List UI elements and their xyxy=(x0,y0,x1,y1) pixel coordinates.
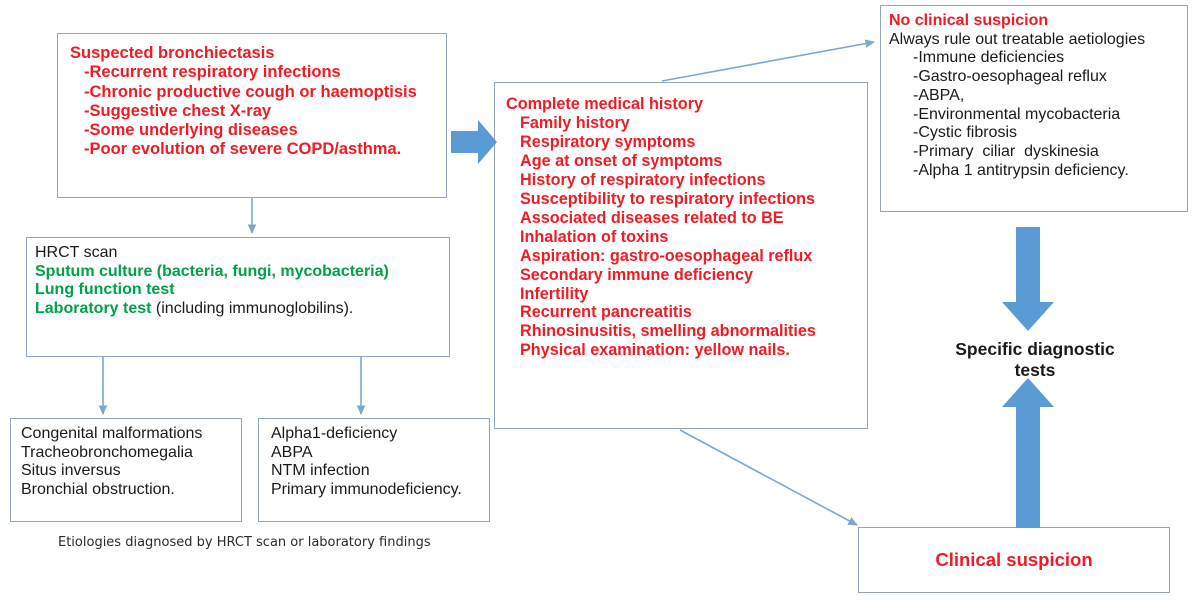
suspected-item-2: -Suggestive chest X-ray xyxy=(70,102,417,121)
no-suspicion-item-1: -Gastro-oesophageal reflux xyxy=(889,68,1145,87)
hrct-line-sputum: Sputum culture (bacteria, fungi, mycobac… xyxy=(35,263,389,282)
suspected-item-3: -Some underlying diseases xyxy=(70,121,417,140)
specific-tests-line-1: Specific diagnostic xyxy=(910,339,1160,360)
specific-tests-line-2: tests xyxy=(910,360,1160,381)
history-item-7: Aspiration: gastro-oesophageal reflux xyxy=(506,247,816,266)
complete-medical-history-box: Complete medical history Family history … xyxy=(494,82,868,429)
blue-right-arrow xyxy=(451,120,497,164)
etiology-left-item-3: Bronchial obstruction. xyxy=(21,481,202,500)
hrct-scan-box: HRCT scan Sputum culture (bacteria, fung… xyxy=(26,237,450,357)
history-item-10: Recurrent pancreatitis xyxy=(506,303,816,322)
etiologies-caption: Etiologies diagnosed by HRCT scan or lab… xyxy=(58,535,431,550)
hrct-laboratory-label: Laboratory test xyxy=(35,300,151,317)
hrct-line-laboratory: Laboratory test (including immunoglobili… xyxy=(35,300,389,319)
blue-up-arrow xyxy=(1002,378,1054,528)
blue-down-arrow xyxy=(1002,227,1054,331)
no-suspicion-item-4: -Cystic fibrosis xyxy=(889,124,1145,143)
suspected-heading: Suspected bronchiectasis xyxy=(70,44,417,63)
history-heading: Complete medical history xyxy=(506,95,816,114)
etiology-right-item-2: NTM infection xyxy=(271,462,462,481)
suspected-item-4: -Poor evolution of severe COPD/asthma. xyxy=(70,140,417,159)
etiology-left-item-1: Tracheobronchomegalia xyxy=(21,444,202,463)
suspected-bronchiectasis-box: Suspected bronchiectasis -Recurrent resp… xyxy=(57,33,447,198)
no-suspicion-item-6: -Alpha 1 antitrypsin deficiency. xyxy=(889,162,1145,181)
history-item-11: Rhinosinusitis, smelling abnormalities xyxy=(506,322,816,341)
no-suspicion-item-2: -ABPA, xyxy=(889,87,1145,106)
etiology-left-item-0: Congenital malformations xyxy=(21,425,202,444)
history-item-12: Physical examination: yellow nails. xyxy=(506,341,816,360)
hrct-line-scan: HRCT scan xyxy=(35,244,389,263)
history-item-5: Associated diseases related to BE xyxy=(506,209,816,228)
arrow-history-to-clinical-suspicion xyxy=(680,430,857,525)
suspected-item-1: -Chronic productive cough or haemoptisis xyxy=(70,83,417,102)
history-item-9: Infertility xyxy=(506,285,816,304)
flowchart-diagram: Suspected bronchiectasis -Recurrent resp… xyxy=(0,0,1200,600)
etiology-right-item-1: ABPA xyxy=(271,444,462,463)
hrct-laboratory-note: (including immunoglobilins). xyxy=(151,300,353,317)
history-item-8: Secondary immune deficiency xyxy=(506,266,816,285)
hrct-line-lungfunction: Lung function test xyxy=(35,281,389,300)
clinical-suspicion-box: Clinical suspicion xyxy=(858,527,1170,593)
no-suspicion-heading: No clinical suspicion xyxy=(889,12,1145,31)
history-item-0: Family history xyxy=(506,114,816,133)
no-suspicion-item-5: -Primary ciliar dyskinesia xyxy=(889,143,1145,162)
etiology-box-right: Alpha1-deficiency ABPA NTM infection Pri… xyxy=(258,418,490,522)
suspected-item-0: -Recurrent respiratory infections xyxy=(70,63,417,82)
specific-diagnostic-tests-label: Specific diagnostic tests xyxy=(910,339,1160,382)
etiology-box-left: Congenital malformations Tracheobronchom… xyxy=(10,418,242,522)
etiology-right-item-3: Primary immunodeficiency. xyxy=(271,481,462,500)
etiology-right-item-0: Alpha1-deficiency xyxy=(271,425,462,444)
no-clinical-suspicion-box: No clinical suspicion Always rule out tr… xyxy=(880,5,1188,212)
arrow-history-to-no-suspicion xyxy=(662,42,874,81)
clinical-suspicion-label: Clinical suspicion xyxy=(935,549,1092,571)
history-item-6: Inhalation of toxins xyxy=(506,228,816,247)
no-suspicion-item-3: -Environmental mycobacteria xyxy=(889,106,1145,125)
no-suspicion-subheading: Always rule out treatable aetiologies xyxy=(889,31,1145,50)
no-suspicion-item-0: -Immune deficiencies xyxy=(889,49,1145,68)
history-item-3: History of respiratory infections xyxy=(506,171,816,190)
history-item-4: Susceptibility to respiratory infections xyxy=(506,190,816,209)
etiology-left-item-2: Situs inversus xyxy=(21,462,202,481)
history-item-2: Age at onset of symptoms xyxy=(506,152,816,171)
history-item-1: Respiratory symptoms xyxy=(506,133,816,152)
